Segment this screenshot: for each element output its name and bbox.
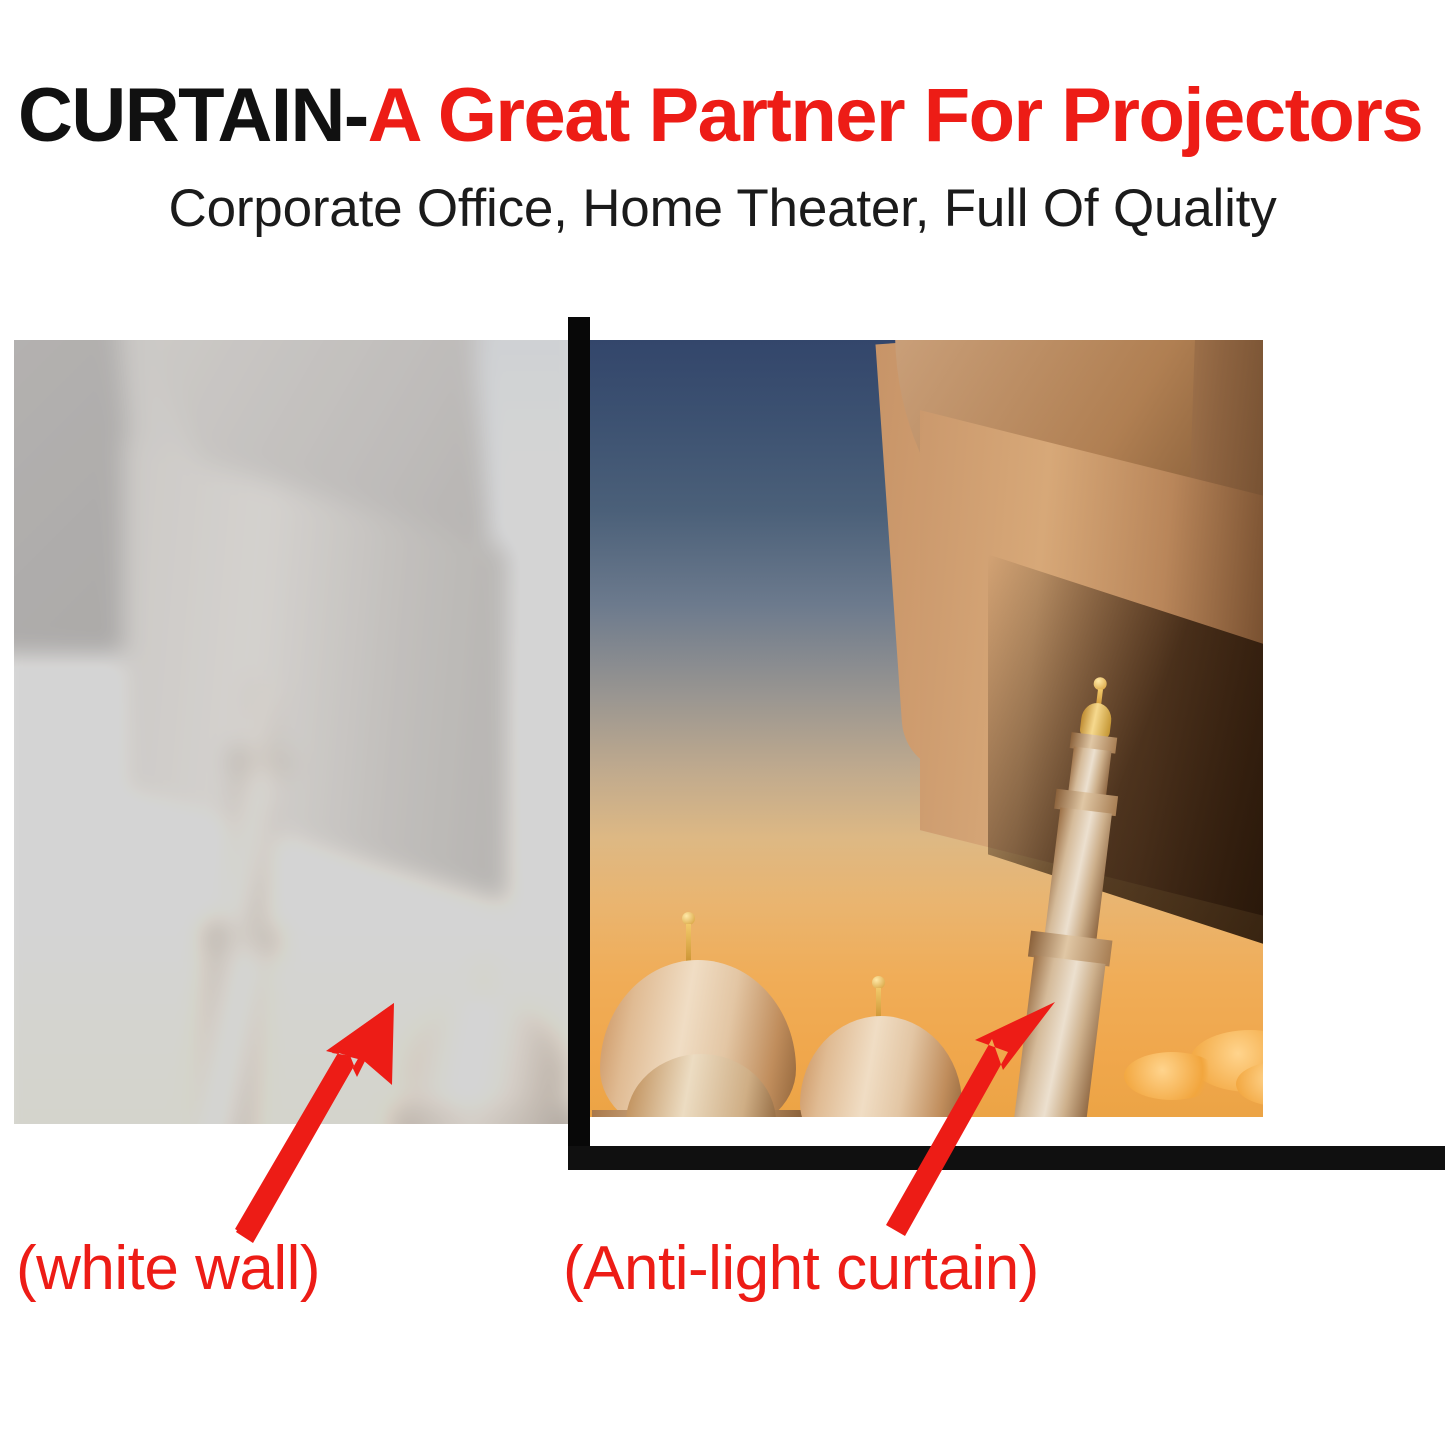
- anti-light-curtain-projection-panel: [590, 340, 1263, 1117]
- page-subtitle: Corporate Office, Home Theater, Full Of …: [0, 182, 1445, 235]
- headline-black-part: CURTAIN-: [18, 73, 368, 158]
- headline-red-part: A Great Partner For Projectors: [368, 73, 1423, 158]
- page-title: CURTAIN-A Great Partner For Projectors: [18, 78, 1428, 154]
- curtain-frame-horizontal-bar: [568, 1146, 1445, 1170]
- curtain-frame-vertical-bar: [568, 317, 590, 1170]
- white-wall-light-wash: [14, 340, 568, 1124]
- product-comparison-banner: CURTAIN-A Great Partner For Projectors C…: [0, 0, 1445, 1445]
- curtain-scene: [590, 340, 1263, 1117]
- white-wall-caption: (white wall): [16, 1238, 320, 1300]
- anti-light-curtain-caption: (Anti-light curtain): [563, 1238, 1039, 1300]
- white-wall-projection-panel: [14, 340, 568, 1124]
